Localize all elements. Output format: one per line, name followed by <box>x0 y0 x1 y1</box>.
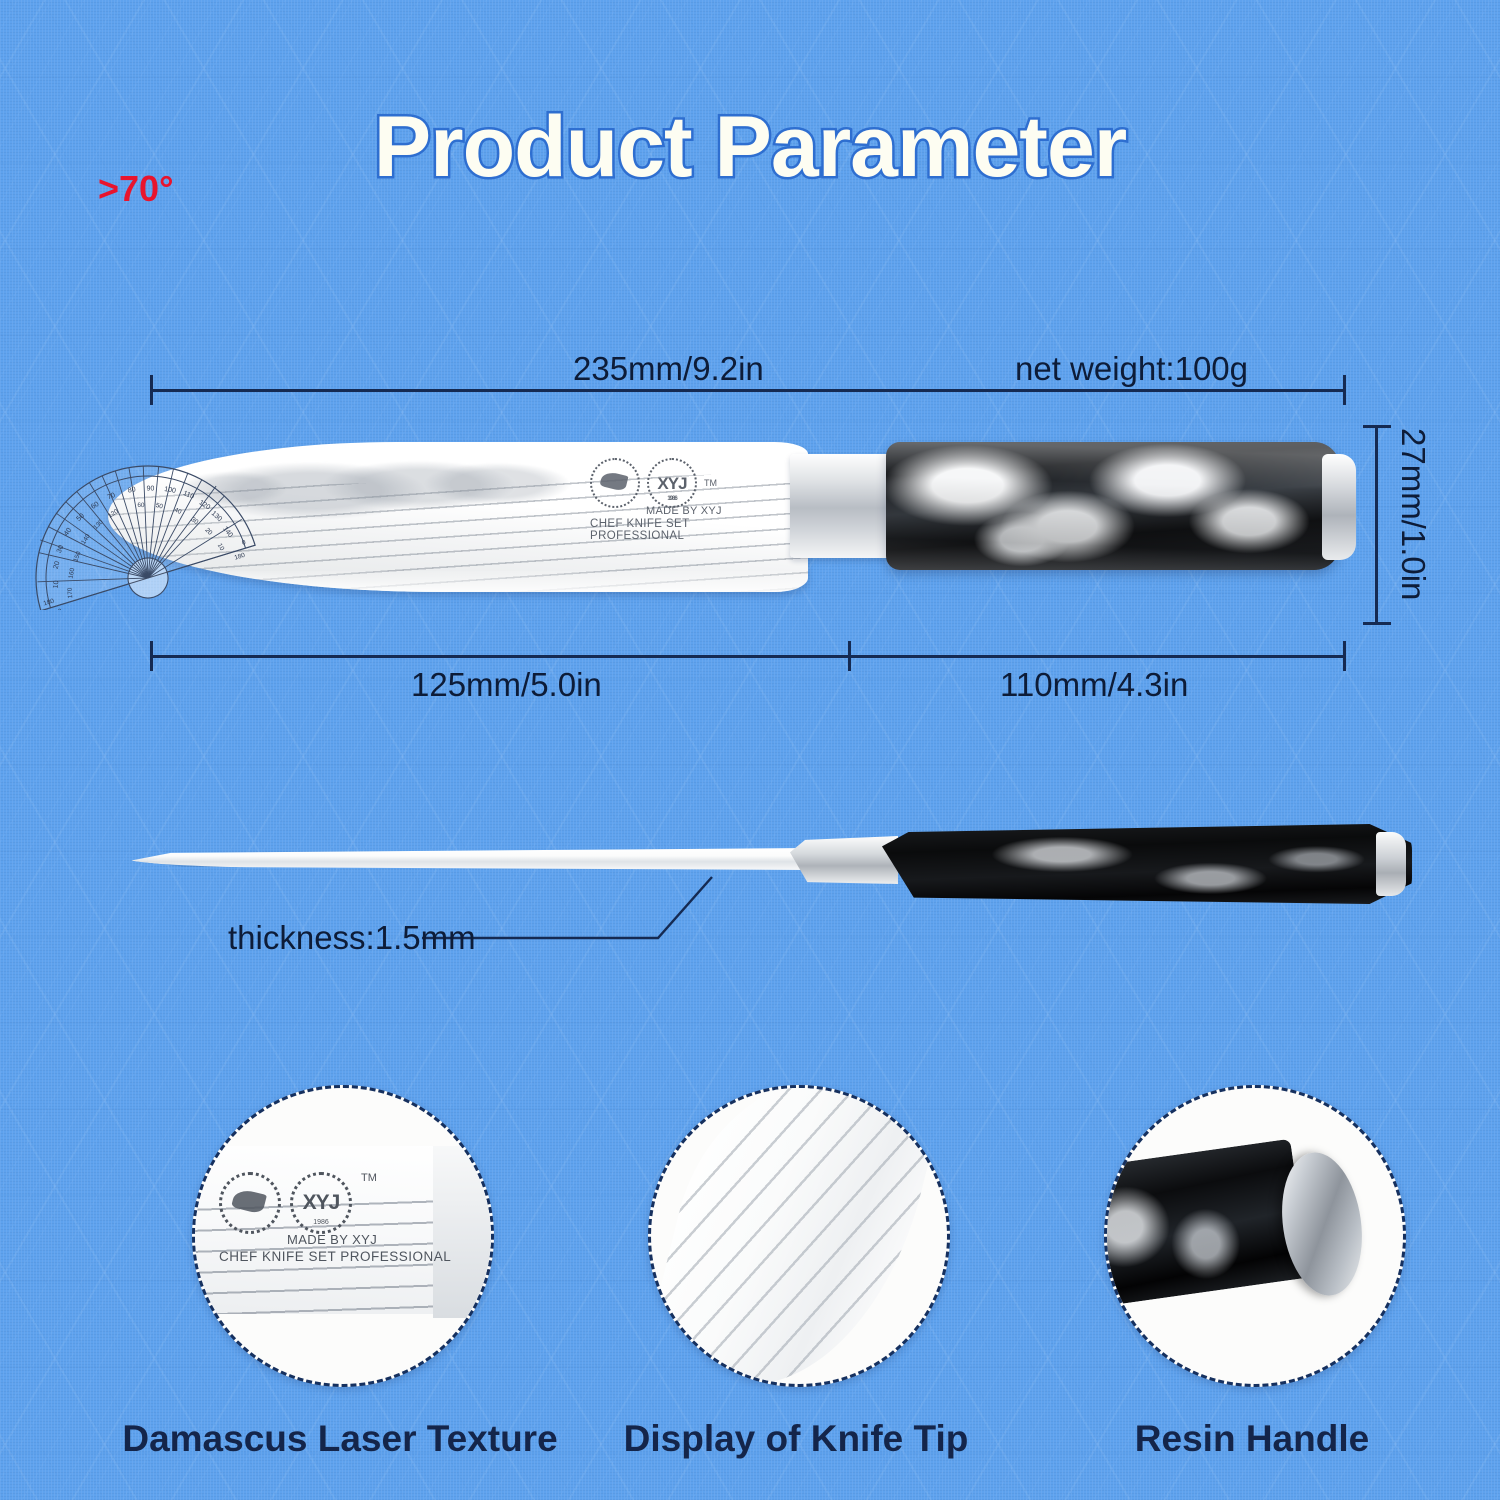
caption-damascus: Damascus Laser Texture <box>90 1418 590 1460</box>
inset-trademark: TM <box>361 1172 377 1184</box>
detail-inset-resin-handle <box>1104 1085 1406 1387</box>
inset-brand-mark: XYJ <box>303 1191 340 1215</box>
inset-tagline: CHEF KNIFE SET PROFESSIONAL <box>219 1249 451 1264</box>
inset-xyj-icon: XYJ 1986 <box>290 1172 352 1234</box>
inset-chef-logo-icon <box>231 1187 267 1214</box>
detail-inset-damascus: XYJ 1986 TM MADE BY XYJ CHEF KNIFE SET P… <box>192 1085 494 1387</box>
label-thickness: thickness:1.5mm <box>228 919 476 957</box>
caption-resin-handle: Resin Handle <box>1002 1418 1500 1460</box>
knife-tip-damascus-lines <box>648 1085 946 1387</box>
knife-tip-closeup <box>648 1085 946 1387</box>
detail-inset-knife-tip <box>648 1085 950 1387</box>
caption-knife-tip: Display of Knife Tip <box>546 1418 1046 1460</box>
inset-brand-year: 1986 <box>293 1219 349 1226</box>
resin-handle-closeup <box>1104 1139 1309 1314</box>
inset-made-by: MADE BY XYJ <box>287 1232 451 1247</box>
inset-blade-logo: XYJ 1986 TM MADE BY XYJ CHEF KNIFE SET P… <box>219 1172 451 1264</box>
infographic-canvas: Product Parameter 235mm/9.2in net weight… <box>0 0 1500 1500</box>
